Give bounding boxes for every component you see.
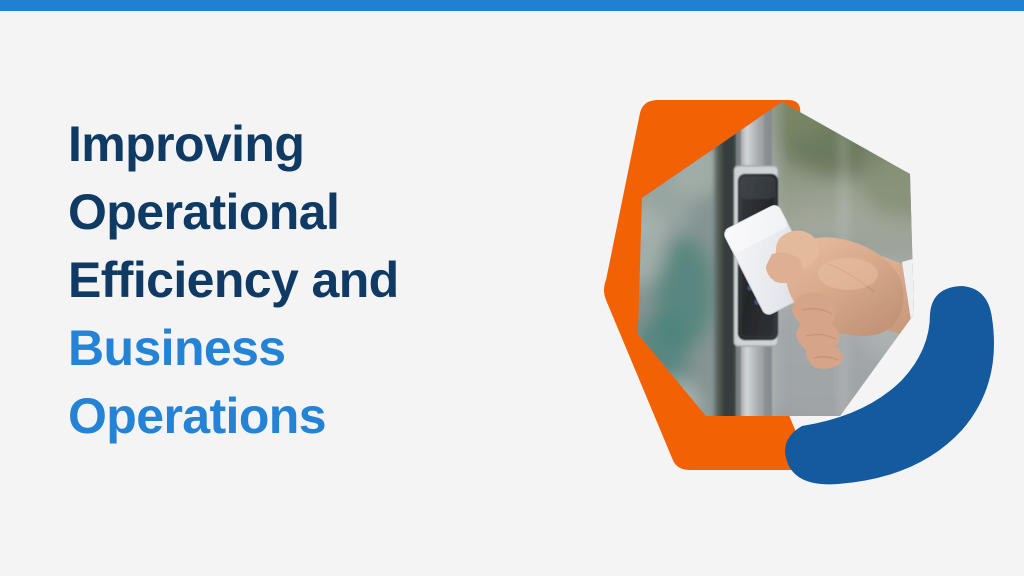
headline-line-4: Business <box>68 314 488 382</box>
headline-line-5: Operations <box>68 382 488 450</box>
top-accent-bar <box>0 0 1024 11</box>
headline-line-3: Efficiency and <box>68 246 488 314</box>
slide-canvas: Improving Operational Efficiency and Bus… <box>0 0 1024 576</box>
headline-line-1: Improving <box>68 110 488 178</box>
hero-graphic <box>510 78 1024 508</box>
page-title: Improving Operational Efficiency and Bus… <box>68 110 488 450</box>
headline-line-2: Operational <box>68 178 488 246</box>
